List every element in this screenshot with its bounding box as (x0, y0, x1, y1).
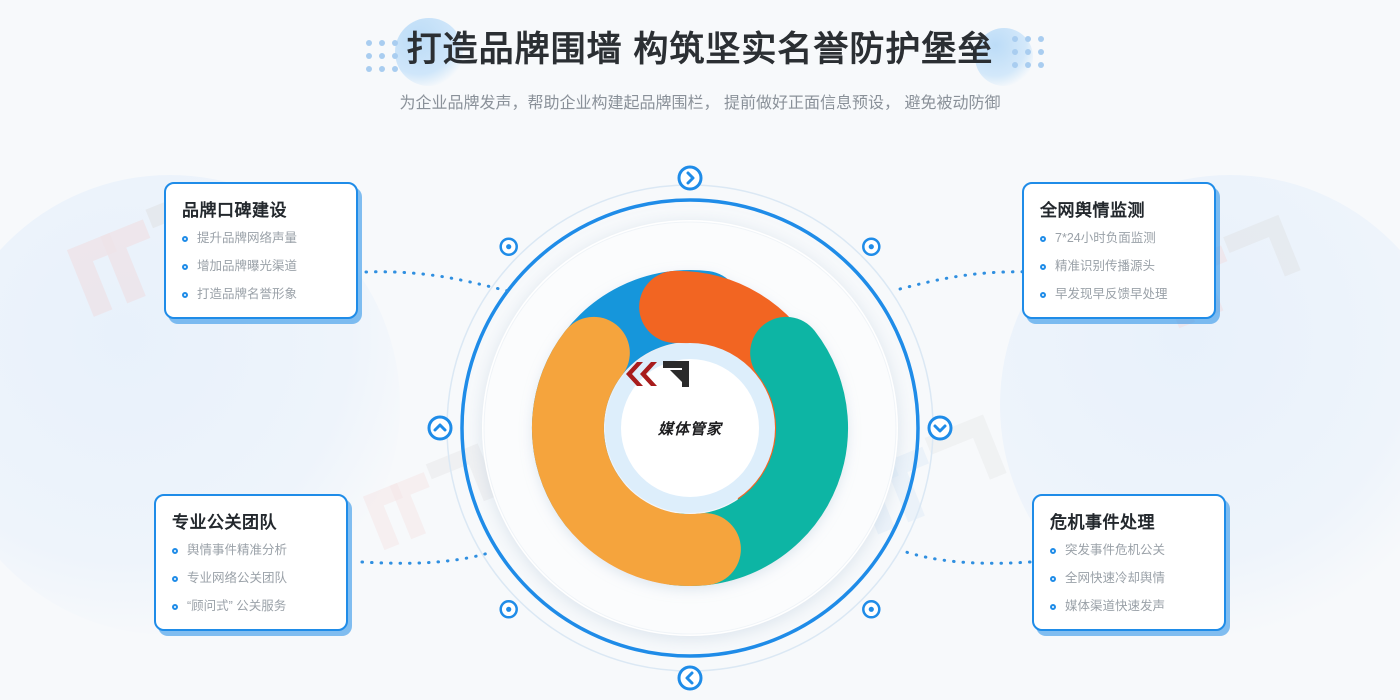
page-subtitle: 为企业品牌发声，帮助企业构建起品牌围栏， 提前做好正面信息预设， 避免被动防御 (390, 89, 1010, 118)
wheel-badge-left[interactable] (427, 415, 453, 441)
page-header: 打造品牌围墙 构筑坚实名誉防护堡垒 为企业品牌发声，帮助企业构建起品牌围栏， 提… (0, 0, 1400, 118)
card-title: 危机事件处理 (1050, 508, 1210, 533)
list-item: 精准识别传播源头 (1040, 258, 1200, 275)
central-wheel: 媒体管家 (440, 178, 940, 678)
wheel-badge-right[interactable] (927, 415, 953, 441)
card-crisis-handling[interactable]: 危机事件处理 突发事件危机公关 全网快速冷却舆情 媒体渠道快速发声 (1032, 494, 1226, 631)
center-logo-disc: 媒体管家 (605, 343, 775, 513)
list-item: 突发事件危机公关 (1050, 542, 1210, 559)
list-item: 专业网络公关团队 (172, 570, 332, 587)
list-item: 增加品牌曝光渠道 (182, 258, 342, 275)
card-brand-reputation[interactable]: 品牌口碑建设 提升品牌网络声量 增加品牌曝光渠道 打造品牌名誉形象 (164, 182, 358, 319)
wheel-badge-top[interactable] (677, 165, 703, 191)
center-logo: 媒体管家 (621, 359, 759, 497)
list-item: 早发现早反馈早处理 (1040, 286, 1200, 303)
list-item: 全网快速冷却舆情 (1050, 570, 1210, 587)
list-item: 打造品牌名誉形象 (182, 286, 342, 303)
card-item-list: 突发事件危机公关 全网快速冷却舆情 媒体渠道快速发声 (1050, 542, 1210, 615)
card-title: 专业公关团队 (172, 508, 332, 533)
list-item: 媒体渠道快速发声 (1050, 598, 1210, 615)
card-title: 全网舆情监测 (1040, 196, 1200, 221)
double-chevron-logo-mark-icon (621, 359, 693, 389)
card-opinion-monitoring[interactable]: 全网舆情监测 7*24小时负面监测 精准识别传播源头 早发现早反馈早处理 (1022, 182, 1216, 319)
card-title: 品牌口碑建设 (182, 196, 342, 221)
card-pr-team[interactable]: 专业公关团队 舆情事件精准分析 专业网络公关团队 “顾问式” 公关服务 (154, 494, 348, 631)
list-item: 提升品牌网络声量 (182, 230, 342, 247)
list-item: “顾问式” 公关服务 (172, 598, 332, 615)
page-title: 打造品牌围墙 构筑坚实名誉防护堡垒 (0, 0, 1400, 67)
card-item-list: 舆情事件精准分析 专业网络公关团队 “顾问式” 公关服务 (172, 542, 332, 615)
list-item: 舆情事件精准分析 (172, 542, 332, 559)
card-item-list: 提升品牌网络声量 增加品牌曝光渠道 打造品牌名誉形象 (182, 230, 342, 303)
wheel-badge-bottom[interactable] (677, 665, 703, 691)
center-logo-text: 媒体管家 (658, 418, 722, 439)
list-item: 7*24小时负面监测 (1040, 230, 1200, 247)
card-item-list: 7*24小时负面监测 精准识别传播源头 早发现早反馈早处理 (1040, 230, 1200, 303)
